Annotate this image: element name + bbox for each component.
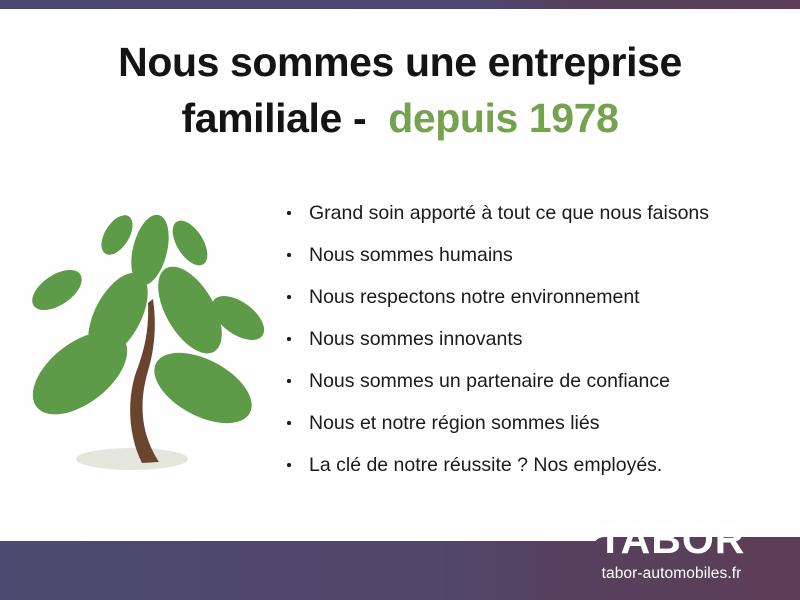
list-item-label: La clé de notre réussite ? Nos employés. (309, 454, 662, 476)
top-accent-band (0, 0, 800, 9)
bullet-dot-icon (287, 253, 291, 257)
headline-prefix: familiale - (181, 95, 366, 141)
list-item: Nous respectons notre environnement (286, 276, 766, 318)
bullet-dot-icon (287, 463, 291, 467)
slide-canvas: Nous sommes une entreprise familiale - d… (0, 0, 800, 600)
list-item-label: Nous sommes un partenaire de confiance (309, 370, 670, 392)
list-item-label: Grand soin apporté à tout ce que nous fa… (309, 202, 709, 224)
page-title: Nous sommes une entreprise familiale - d… (0, 34, 800, 146)
brand-logo[interactable]: TABOR tabor-automobiles.fr (543, 508, 800, 600)
list-item-label: Nous sommes innovants (309, 328, 523, 350)
headline-accent: depuis 1978 (388, 95, 618, 141)
bullet-dot-icon (287, 211, 291, 215)
list-item: Grand soin apporté à tout ce que nous fa… (286, 192, 766, 234)
list-item: Nous sommes humains (286, 234, 766, 276)
list-item-label: Nous sommes humains (309, 244, 513, 266)
bullet-dot-icon (287, 379, 291, 383)
tree-illustration (20, 185, 270, 485)
list-item: Nous sommes innovants (286, 318, 766, 360)
bullet-dot-icon (287, 295, 291, 299)
headline-line-1: Nous sommes une entreprise (0, 34, 800, 90)
bullet-dot-icon (287, 421, 291, 425)
list-item: La clé de notre réussite ? Nos employés. (286, 444, 766, 486)
value-list: Grand soin apporté à tout ce que nous fa… (286, 192, 766, 486)
headline-line-2: familiale - depuis 1978 (0, 90, 800, 146)
list-item-label: Nous et notre région sommes liés (309, 412, 599, 434)
bullet-dot-icon (287, 337, 291, 341)
list-item-label: Nous respectons notre environnement (309, 286, 640, 308)
list-item: Nous et notre région sommes liés (286, 402, 766, 444)
tree-shadow (76, 448, 188, 470)
list-item: Nous sommes un partenaire de confiance (286, 360, 766, 402)
